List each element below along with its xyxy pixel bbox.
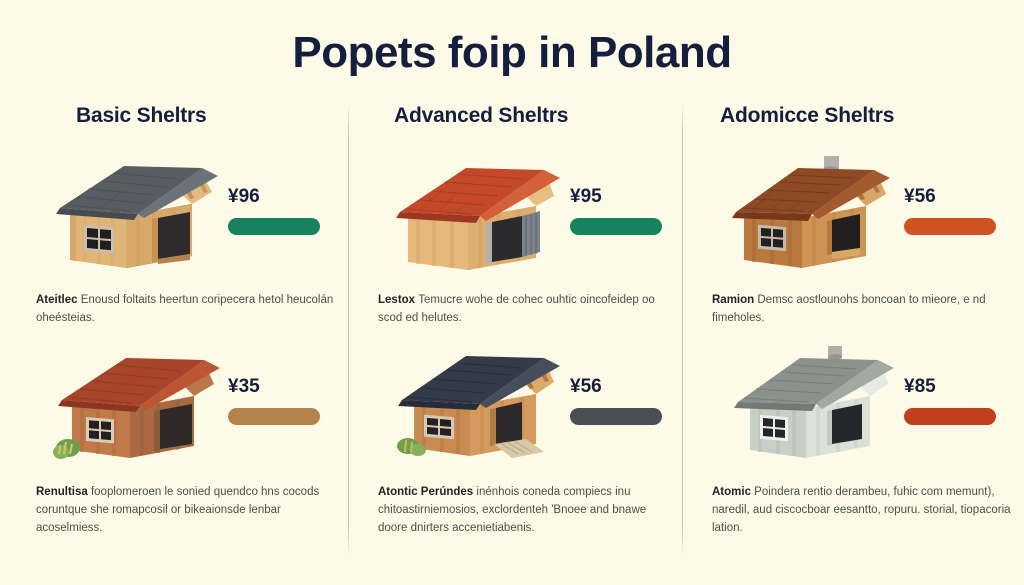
price-label: ¥85 (904, 376, 1022, 398)
description-lead: Atomic (712, 486, 754, 498)
description-lead: Renultisa (36, 486, 91, 498)
shelter-card[interactable]: ¥35 Renultisa fooplomeroen le sonied que… (34, 324, 352, 514)
shelter-card[interactable]: ¥56 Ramion Demsc aostlounohs boncoan to … (710, 134, 1024, 324)
price-block: ¥56 (570, 376, 688, 425)
price-block: ¥95 (570, 186, 688, 235)
card-description: Ramion Demsc aostlounohs boncoan to mieo… (712, 292, 1012, 328)
dog-house-red-roof-gray-door-icon (394, 156, 566, 274)
price-block: ¥35 (228, 376, 346, 425)
description-lead: Lestox (378, 294, 418, 306)
card-description: Lestox Temucre wohe de cohec ouhtic oinc… (378, 292, 678, 328)
dog-house-chimney-brown-roof-icon (728, 156, 900, 274)
card-description: Atomic Poindera rentio derambeu, fuhic c… (712, 484, 1012, 537)
card-description: Atontic Perúndes inénhois coneda compiec… (378, 484, 678, 537)
description-lead: Ateitlec (36, 294, 81, 306)
description-body: Poindera rentio derambeu, fuhic com memu… (712, 486, 1011, 534)
rating-pill (228, 218, 320, 235)
rating-pill (228, 408, 320, 425)
rating-pill (904, 408, 996, 425)
rating-pill (570, 218, 662, 235)
infographic-page: Popets foip in Poland Basic Sheltrs (0, 0, 1024, 585)
price-label: ¥56 (570, 376, 688, 398)
shelter-card[interactable]: ¥96 Ateitlec Enousd foltaits heertun cor… (34, 134, 352, 324)
column-adomicce: Adomicce Sheltrs (710, 104, 1024, 514)
bush-decoration (53, 439, 80, 459)
dog-house-gray-chimney-icon (728, 346, 900, 464)
price-label: ¥56 (904, 186, 1022, 208)
column-heading: Basic Sheltrs (76, 104, 352, 128)
page-title: Popets foip in Poland (0, 28, 1024, 78)
column-heading: Advanced Sheltrs (394, 104, 694, 128)
description-body: Enousd foltaits heertun coripecera hetol… (36, 294, 333, 324)
rating-pill (570, 408, 662, 425)
card-description: Ateitlec Enousd foltaits heertun coripec… (36, 292, 336, 328)
column-heading: Adomicce Sheltrs (720, 104, 1024, 128)
price-block: ¥96 (228, 186, 346, 235)
shelter-card[interactable]: ¥85 Atomic Poindera rentio derambeu, fuh… (710, 324, 1024, 514)
price-label: ¥35 (228, 376, 346, 398)
column-basic: Basic Sheltrs (34, 104, 352, 514)
dog-house-dark-roof-ramp-icon (394, 346, 566, 464)
price-block: ¥85 (904, 376, 1022, 425)
description-lead: Atontic Perúndes (378, 486, 476, 498)
description-body: Temucre wohe de cohec ouhtic oincofeidep… (378, 294, 655, 324)
price-label: ¥96 (228, 186, 346, 208)
chimney (828, 346, 842, 360)
shelter-card[interactable]: ¥56 Atontic Perúndes inénhois coneda com… (376, 324, 694, 514)
price-block: ¥56 (904, 186, 1022, 235)
dog-house-gray-roof-icon (52, 156, 224, 274)
price-label: ¥95 (570, 186, 688, 208)
dog-house-red-roof-window-icon (52, 346, 224, 464)
rating-pill (904, 218, 996, 235)
description-lead: Ramion (712, 294, 757, 306)
shelter-card[interactable]: ¥95 Lestox Temucre wohe de cohec ouhtic … (376, 134, 694, 324)
column-advanced: Advanced Sheltrs (376, 104, 694, 514)
card-description: Renultisa fooplomeroen le sonied quendco… (36, 484, 336, 537)
